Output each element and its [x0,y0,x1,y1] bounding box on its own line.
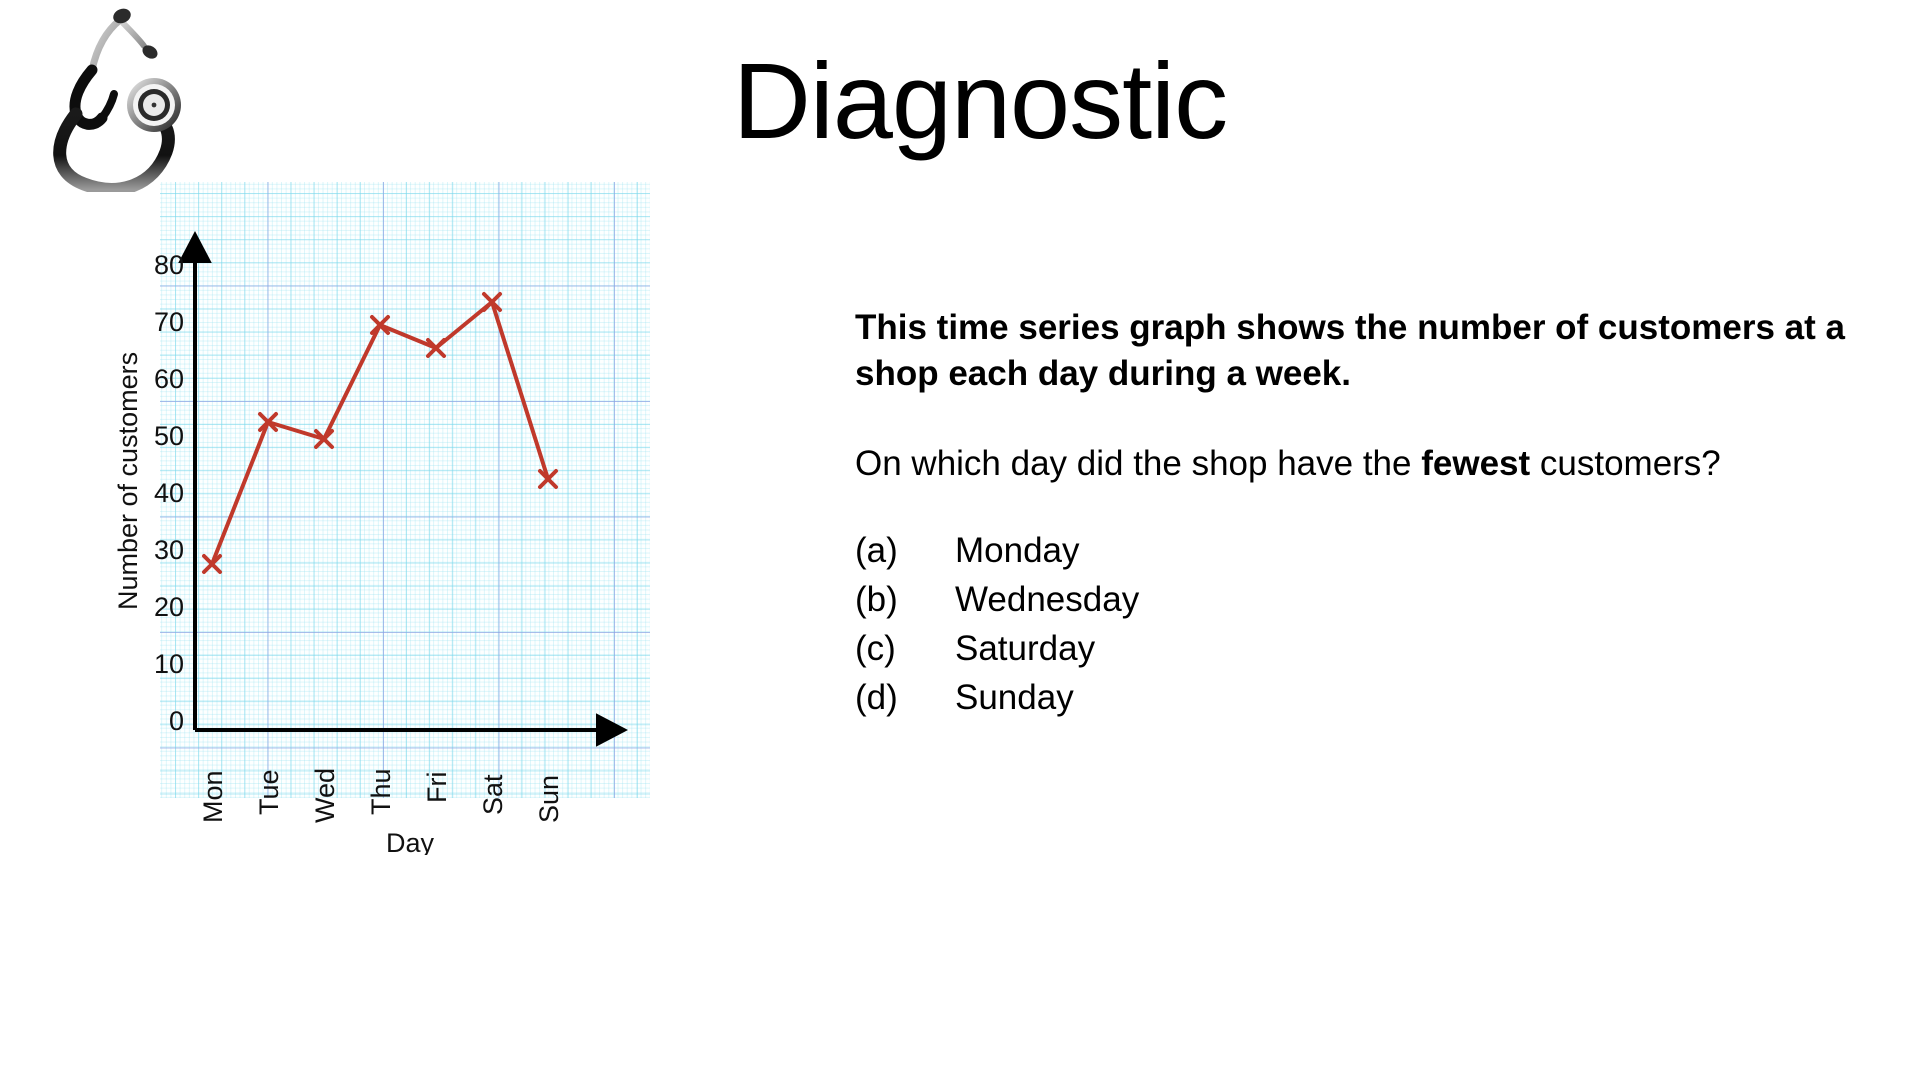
x-tick-wed: Wed [310,768,340,823]
chart-plot-area: 80 70 60 50 40 30 20 10 0 Number of cust… [115,215,675,855]
x-tick-sun: Sun [534,775,564,823]
marker-mon [204,556,220,572]
page-title-text: Diagnostic [733,42,1227,161]
y-tick-80: 80 [154,250,184,280]
y-axis-title: Number of customers [115,352,143,610]
question-prefix: On which day did the shop have the [855,444,1421,483]
option-a[interactable]: (a) Monday [855,528,1855,574]
option-a-key: (a) [855,528,955,574]
y-tick-50: 50 [154,421,184,451]
option-d[interactable]: (d) Sunday [855,675,1855,721]
y-tick-70: 70 [154,307,184,337]
intro-text: This time series graph shows the number … [855,305,1855,397]
option-a-label: Monday [955,528,1855,574]
y-tick-10: 10 [154,649,184,679]
y-tick-60: 60 [154,364,184,394]
option-c[interactable]: (c) Saturday [855,626,1855,672]
option-d-label: Sunday [955,675,1855,721]
y-tick-0: 0 [169,706,184,736]
question-suffix: customers? [1530,444,1721,483]
question-emphasis: fewest [1421,444,1530,483]
option-d-key: (d) [855,675,955,721]
question-text: On which day did the shop have the fewes… [855,441,1855,487]
option-b-label: Wednesday [955,577,1855,623]
x-tick-mon: Mon [198,770,228,823]
y-tick-40: 40 [154,478,184,508]
options-list: (a) Monday (b) Wednesday (c) Saturday (d… [855,528,1855,722]
question-panel: This time series graph shows the number … [855,305,1855,724]
y-tick-20: 20 [154,592,184,622]
y-tick-labels: 80 70 60 50 40 30 20 10 0 [154,250,184,736]
option-b[interactable]: (b) Wednesday [855,577,1855,623]
data-line [212,302,548,564]
option-c-label: Saturday [955,626,1855,672]
x-tick-labels: Mon Tue Wed Thu Fri Sat Sun [198,768,564,823]
x-tick-sat: Sat [478,774,508,815]
option-c-key: (c) [855,626,955,672]
x-tick-fri: Fri [422,772,452,803]
x-tick-tue: Tue [254,769,284,815]
x-tick-thu: Thu [366,768,396,815]
x-axis-title: Day [386,828,435,855]
marker-fri [428,340,444,356]
page-title: Diagnostic [0,42,1920,161]
option-b-key: (b) [855,577,955,623]
y-tick-30: 30 [154,535,184,565]
marker-thu [372,317,388,333]
time-series-chart: 80 70 60 50 40 30 20 10 0 Number of cust… [115,215,675,855]
